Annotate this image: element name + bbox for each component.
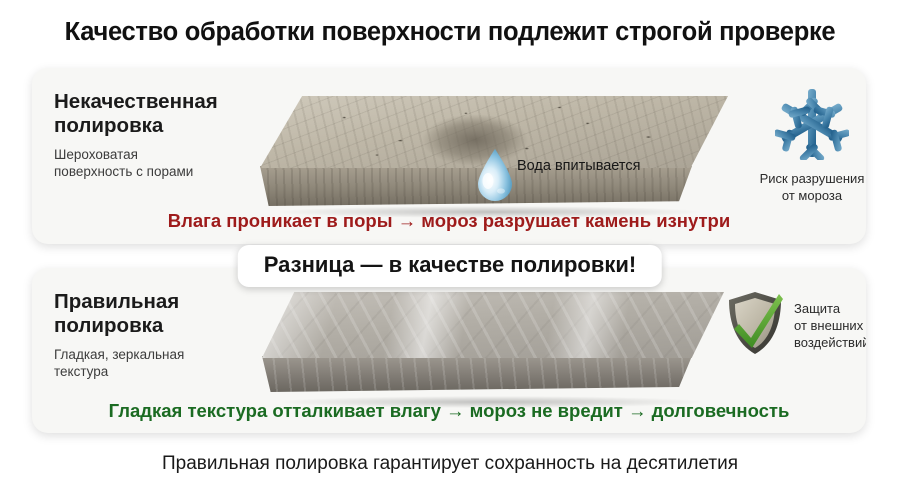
- frost-risk-block: Риск разрушения от мороза: [732, 86, 866, 205]
- page-title: Качество обработки поверхности подлежит …: [0, 18, 900, 47]
- bad-heading-line2: полировка: [54, 114, 218, 138]
- polished-slab-side: [262, 356, 692, 392]
- polished-slab-top: [262, 292, 724, 358]
- protection-caption: Защита от внешних воздействий: [794, 300, 866, 351]
- good-heading-line2: полировка: [54, 314, 184, 338]
- water-absorb-callout: Вода впитывается: [517, 158, 640, 174]
- bad-subtitle-line1: Шероховатая: [54, 146, 218, 163]
- frost-risk-line2: от мороза: [732, 188, 866, 205]
- bad-heading: Некачественная полировка: [54, 90, 218, 137]
- good-polish-card: Правильная полировка Гладкая, зеркальная…: [32, 268, 866, 433]
- bad-conclusion-text: Влага проникает в поры → мороз разрушает…: [32, 210, 866, 232]
- good-label-block: Правильная полировка Гладкая, зеркальная…: [54, 290, 184, 381]
- bad-subtitle-line2: поверхность с порами: [54, 163, 218, 180]
- footer-text: Правильная полировка гарантирует сохранн…: [0, 453, 900, 475]
- good-subtitle: Гладкая, зеркальная текстура: [54, 346, 184, 381]
- bad-heading-line1: Некачественная: [54, 90, 218, 114]
- protection-line3: воздействий: [794, 334, 866, 351]
- bad-label-block: Некачественная полировка Шероховатая пов…: [54, 90, 218, 181]
- frost-risk-line1: Риск разрушения: [732, 171, 866, 188]
- protection-block: Защита от внешних воздействий: [726, 290, 866, 361]
- shield-check-icon: [726, 290, 784, 361]
- good-conclusion-text: Гладкая текстура отталкивает влагу → мор…: [32, 400, 866, 422]
- snowflake-icon: [732, 86, 866, 165]
- good-subtitle-line1: Гладкая, зеркальная: [54, 346, 184, 363]
- good-heading: Правильная полировка: [54, 290, 184, 337]
- infographic-page: Качество обработки поверхности подлежит …: [0, 0, 900, 491]
- falling-water-drop-icon: [475, 148, 515, 202]
- difference-banner: Разница — в качестве полировки!: [238, 245, 662, 287]
- good-heading-line1: Правильная: [54, 290, 184, 314]
- good-subtitle-line2: текстура: [54, 363, 184, 380]
- frost-risk-caption: Риск разрушения от мороза: [732, 171, 866, 205]
- protection-line1: Защита: [794, 300, 866, 317]
- bad-polish-card: Некачественная полировка Шероховатая пов…: [32, 68, 866, 244]
- polished-stone-slab: [262, 292, 724, 404]
- protection-line2: от внешних: [794, 317, 866, 334]
- bad-subtitle: Шероховатая поверхность с порами: [54, 146, 218, 181]
